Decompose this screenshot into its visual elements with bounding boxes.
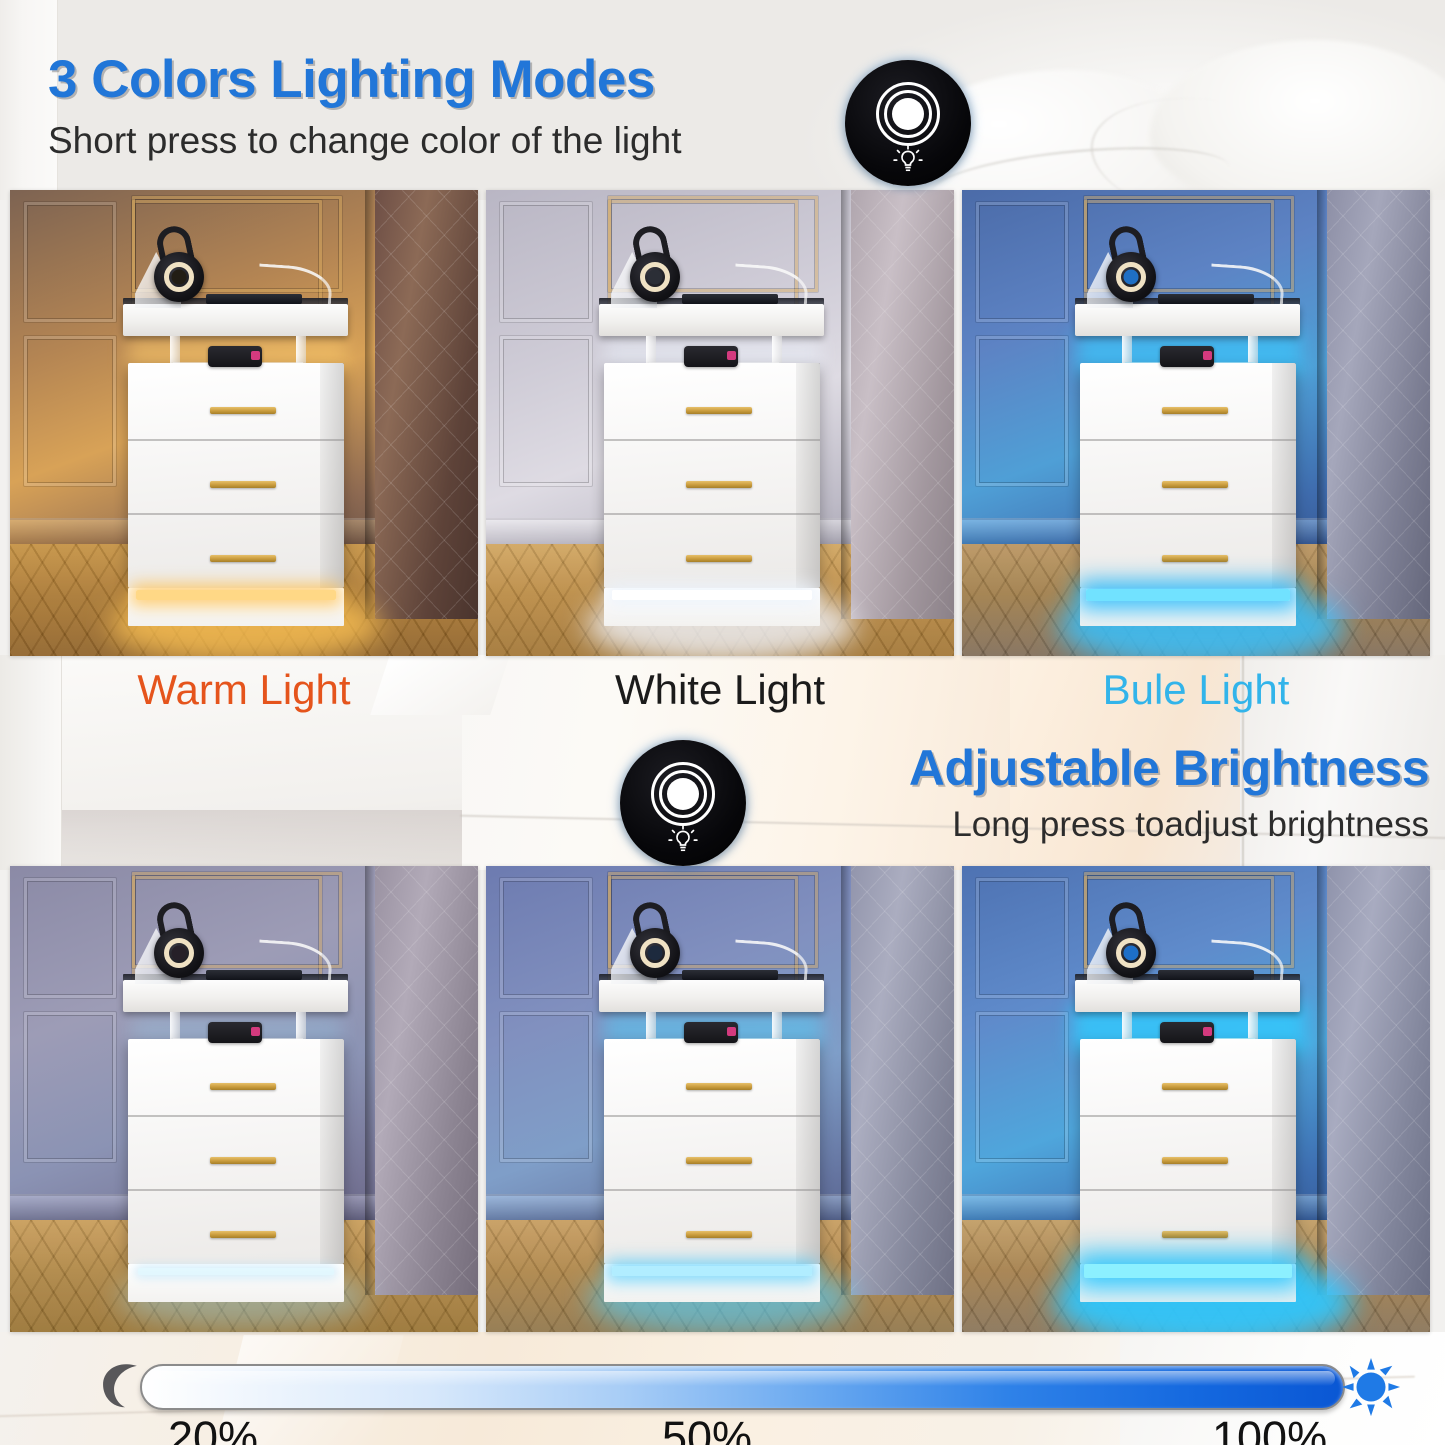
curtain-edge-shadow <box>841 866 851 1295</box>
phone-on-top <box>206 970 302 980</box>
drawer-handle <box>210 1157 276 1164</box>
nightstand-body <box>1080 1039 1296 1264</box>
tufted-curtain-pattern <box>851 866 954 1295</box>
wall-moulding <box>976 202 1068 322</box>
drawer-handle <box>210 481 276 488</box>
brightness-subtitle: Long press toadjust brightness <box>909 805 1429 845</box>
phone-on-top <box>682 294 778 304</box>
drawer-handle <box>1162 481 1228 488</box>
headphone-cup <box>630 252 680 302</box>
wall-moulding <box>500 336 592 486</box>
drawer-divider <box>1080 439 1296 441</box>
led-strip <box>1084 1264 1292 1278</box>
tufted-curtain-pattern <box>375 866 478 1295</box>
drawer-handle <box>686 481 752 488</box>
caption-blue-light: Bule Light <box>962 666 1430 714</box>
slider-tick-20: 20% <box>168 1412 258 1445</box>
nightstand-side-panel <box>1272 1039 1296 1264</box>
drawer-handle <box>1162 1083 1228 1090</box>
sunglasses <box>208 346 262 367</box>
caption-warm-light: Warm Light <box>10 666 478 714</box>
drawer-handle <box>686 1083 752 1090</box>
wall-moulding <box>976 336 1068 486</box>
wall-moulding <box>976 878 1068 998</box>
led-strip <box>138 1268 334 1275</box>
product-photo-blue-light <box>962 190 1430 656</box>
wall-moulding <box>500 1012 592 1162</box>
colors-subtitle: Short press to change color of the light <box>48 120 681 162</box>
slider-track[interactable] <box>140 1364 1345 1410</box>
curtain-edge-shadow <box>1317 866 1327 1295</box>
wall-moulding <box>24 878 116 998</box>
drawer-divider <box>128 1115 344 1117</box>
nightstand-side-panel <box>796 363 820 588</box>
sunglasses-accent <box>727 351 736 360</box>
nightstand-side-panel <box>1272 363 1296 588</box>
tufted-curtain-pattern <box>375 190 478 619</box>
headphone-center <box>1124 946 1139 961</box>
sunglasses <box>684 1022 738 1043</box>
phone-on-top <box>682 970 778 980</box>
led-strip <box>612 590 812 600</box>
nightstand-body <box>1080 363 1296 588</box>
led-strip <box>1086 589 1290 601</box>
colors-heading-block: 3 Colors Lighting Modes Short press to c… <box>48 52 681 162</box>
sensor-core <box>892 98 924 130</box>
drawer-handle <box>210 1083 276 1090</box>
brightness-heading-block: Adjustable Brightness Long press toadjus… <box>909 742 1429 845</box>
slider-gloss <box>150 1371 1335 1386</box>
wall-moulding <box>24 202 116 322</box>
drawer-handle <box>1162 555 1228 562</box>
wall-moulding <box>500 878 592 998</box>
phone-on-top <box>206 294 302 304</box>
drawer-handle <box>686 407 752 414</box>
product-photo-warm-light <box>10 190 478 656</box>
bulb-icon <box>891 144 925 178</box>
tufted-curtain-pattern <box>1327 190 1430 619</box>
drawer-divider <box>128 513 344 515</box>
curtain-edge-shadow <box>365 190 375 619</box>
headphone-center <box>648 270 663 285</box>
headphone-center <box>172 946 187 961</box>
sunglasses-accent <box>1203 1027 1212 1036</box>
touch-sensor-bulb-icon <box>845 60 971 186</box>
drawer-divider <box>1080 1189 1296 1191</box>
drawer-divider <box>604 1115 820 1117</box>
product-photo-brightness-high <box>962 866 1430 1332</box>
nightstand-body <box>128 363 344 588</box>
brightness-slider[interactable]: 20% 50% 100% <box>0 1352 1445 1445</box>
drawer-divider <box>128 1189 344 1191</box>
nightstand-body <box>128 1039 344 1264</box>
headphone-center <box>1124 270 1139 285</box>
tufted-curtain-pattern <box>1327 866 1430 1295</box>
curtain-edge-shadow <box>1317 190 1327 619</box>
led-strip <box>136 590 336 600</box>
drawer-handle <box>686 1231 752 1238</box>
wall-moulding <box>500 202 592 322</box>
brightness-title: Adjustable Brightness <box>909 742 1429 795</box>
headphone-cup <box>1106 252 1156 302</box>
backdrop-middle-shadow <box>62 810 462 870</box>
wall-moulding <box>24 1012 116 1162</box>
headphone-cup <box>154 928 204 978</box>
sunglasses <box>1160 1022 1214 1043</box>
headphone-center <box>172 270 187 285</box>
nightstand-side-panel <box>320 1039 344 1264</box>
drawer-handle <box>1162 407 1228 414</box>
slider-tick-100: 100% <box>1212 1412 1327 1445</box>
sunglasses <box>208 1022 262 1043</box>
drawer-divider <box>604 1189 820 1191</box>
sunglasses <box>684 346 738 367</box>
phone-on-top <box>1158 970 1254 980</box>
nightstand-body <box>604 363 820 588</box>
product-photo-white-light <box>486 190 954 656</box>
drawer-divider <box>604 439 820 441</box>
drawer-handle <box>210 1231 276 1238</box>
caption-white-light: White Light <box>486 666 954 714</box>
nightstand-side-panel <box>320 363 344 588</box>
drawer-divider <box>128 439 344 441</box>
drawer-handle <box>1162 1231 1228 1238</box>
sunglasses-accent <box>1203 351 1212 360</box>
touch-sensor-disc <box>620 740 746 866</box>
touch-sensor-disc <box>845 60 971 186</box>
headphone-cup <box>154 252 204 302</box>
curtain-edge-shadow <box>841 190 851 619</box>
drawer-handle <box>210 555 276 562</box>
curtain-edge-shadow <box>365 866 375 1295</box>
touch-sensor-bulb-icon <box>620 740 746 866</box>
sunglasses-accent <box>251 351 260 360</box>
headphone-cup <box>630 928 680 978</box>
led-strip <box>612 1266 812 1276</box>
drawer-handle <box>686 1157 752 1164</box>
slider-tick-50: 50% <box>662 1412 752 1445</box>
drawer-divider <box>1080 1115 1296 1117</box>
sunglasses <box>1160 346 1214 367</box>
phone-on-top <box>1158 294 1254 304</box>
drawer-divider <box>1080 513 1296 515</box>
sunglasses-accent <box>727 1027 736 1036</box>
headphone-cup <box>1106 928 1156 978</box>
tufted-curtain-pattern <box>851 190 954 619</box>
sensor-core <box>667 778 699 810</box>
headphone-center <box>648 946 663 961</box>
drawer-handle <box>210 407 276 414</box>
drawer-handle <box>1162 1157 1228 1164</box>
nightstand-side-panel <box>796 1039 820 1264</box>
product-photo-brightness-medium <box>486 866 954 1332</box>
sunglasses-accent <box>251 1027 260 1036</box>
drawer-handle <box>686 555 752 562</box>
nightstand-body <box>604 1039 820 1264</box>
bulb-icon <box>666 824 700 858</box>
sun-icon <box>1340 1356 1402 1418</box>
colors-title: 3 Colors Lighting Modes <box>48 52 681 108</box>
wall-moulding <box>976 1012 1068 1162</box>
wall-moulding <box>24 336 116 486</box>
drawer-divider <box>604 513 820 515</box>
product-photo-brightness-low <box>10 866 478 1332</box>
